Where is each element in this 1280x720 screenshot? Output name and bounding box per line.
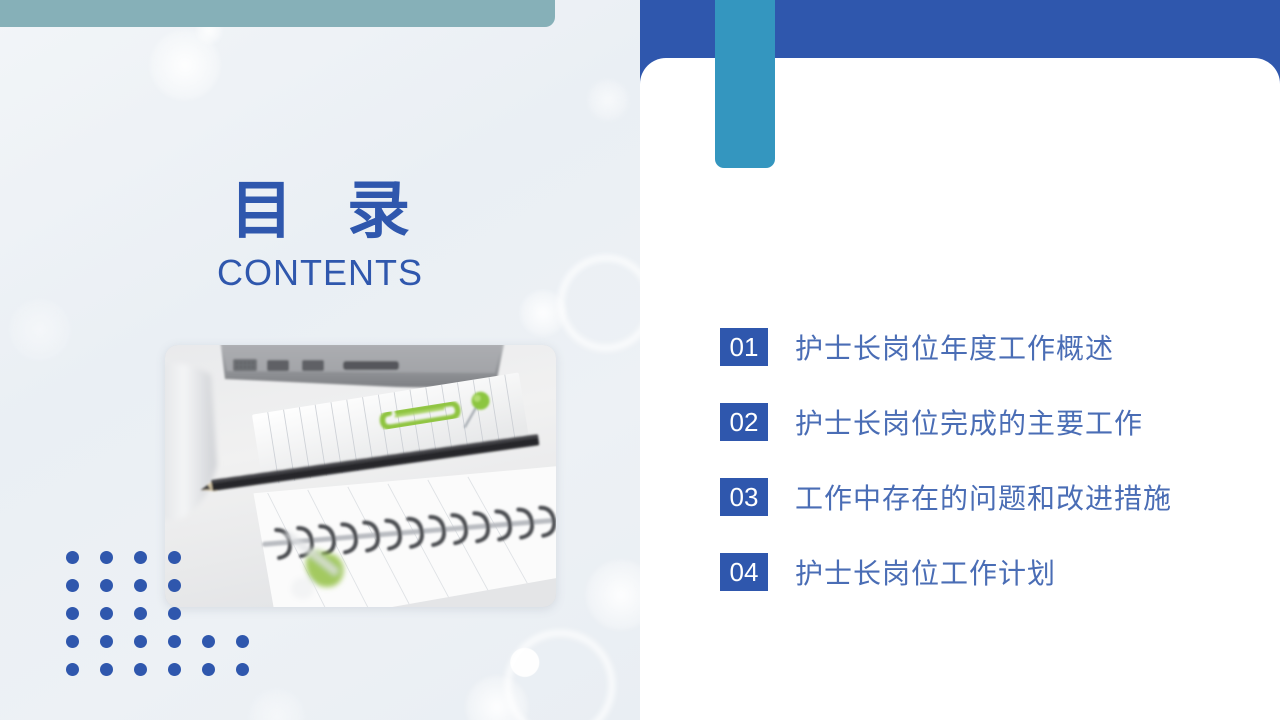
bokeh-circle-icon [586,560,640,630]
dot-decoration [100,579,113,592]
list-item[interactable]: 01护士长岗位年度工作概述 [720,322,1260,372]
dot-decoration [100,663,113,676]
dot-decoration [134,607,147,620]
dot-decoration [66,579,79,592]
toc-number-badge: 03 [720,478,768,516]
bokeh-circle-icon [10,300,70,360]
dot-decoration [134,551,147,564]
toc-item-label: 工作中存在的问题和改进措施 [795,477,1172,517]
dot-decoration [134,663,147,676]
dot-decoration [168,607,181,620]
toc-item-label: 护士长岗位工作计划 [795,552,1056,592]
dot-decoration [168,579,181,592]
bokeh-circle-icon [520,290,566,336]
dot-decoration [168,551,181,564]
dot-decoration [66,607,79,620]
dot-decoration [100,607,113,620]
dot-decoration [168,635,181,648]
page-title-en: CONTENTS [0,252,640,294]
dot-decoration [134,635,147,648]
dot-grid-decoration [66,551,270,691]
dot-decoration [134,579,147,592]
dot-decoration [100,551,113,564]
teal-bar-right [715,0,775,168]
bokeh-ring-icon [505,630,615,720]
teal-bar-top [0,0,555,27]
list-item[interactable]: 02护士长岗位完成的主要工作 [720,397,1260,447]
toc-item-label: 护士长岗位年度工作概述 [795,327,1114,367]
slide-contents: 目 录 CONTENTS [0,0,1280,720]
toc-number-badge: 04 [720,553,768,591]
dot-decoration [202,635,215,648]
dot-decoration [66,663,79,676]
dot-decoration [236,635,249,648]
list-item[interactable]: 04护士长岗位工作计划 [720,547,1260,597]
contents-list: 01护士长岗位年度工作概述02护士长岗位完成的主要工作03工作中存在的问题和改进… [720,322,1260,622]
dot-decoration [66,551,79,564]
page-title-cn: 目 录 [0,178,640,244]
dot-decoration [168,663,181,676]
dot-decoration [66,635,79,648]
bokeh-circle-icon [588,80,628,120]
toc-number-badge: 01 [720,328,768,366]
left-panel: 目 录 CONTENTS [0,0,640,720]
page-title: 目 录 CONTENTS [0,178,640,294]
list-item[interactable]: 03工作中存在的问题和改进措施 [720,472,1260,522]
right-panel: 01护士长岗位年度工作概述02护士长岗位完成的主要工作03工作中存在的问题和改进… [640,0,1280,720]
bokeh-circle-icon [250,690,304,720]
toc-item-label: 护士长岗位完成的主要工作 [795,402,1143,442]
bokeh-circle-icon [466,676,528,720]
dot-decoration [236,663,249,676]
dot-decoration [202,663,215,676]
bokeh-circle-icon [150,30,220,100]
dot-decoration [100,635,113,648]
toc-number-badge: 02 [720,403,768,441]
